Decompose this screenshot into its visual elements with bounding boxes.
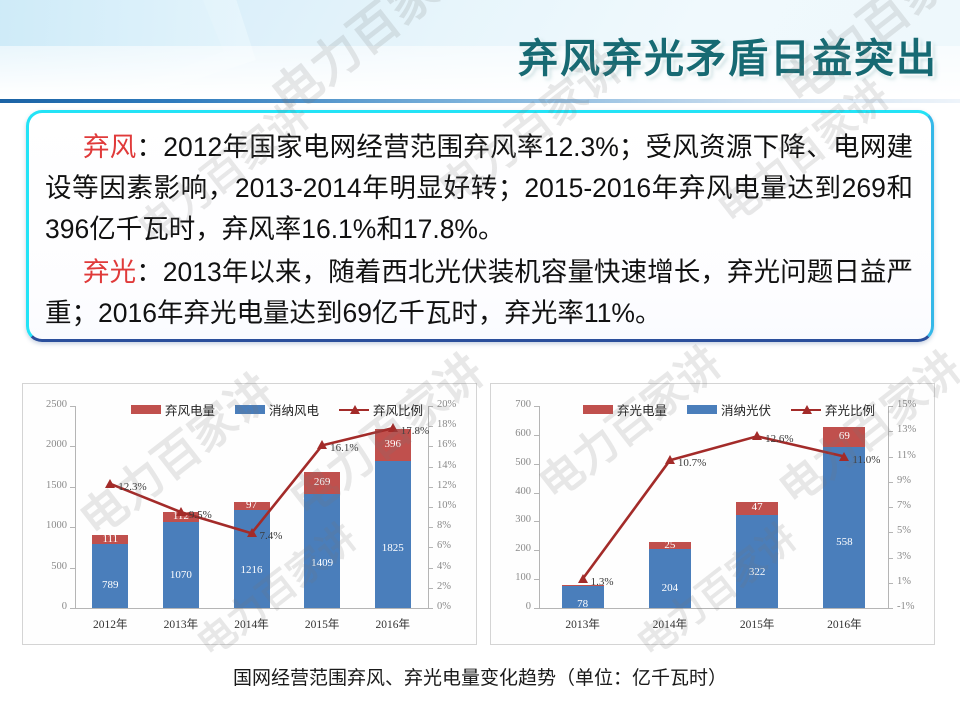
chart-wind-curtailment: 050010001500200025000%2%4%6%8%10%12%14%1… bbox=[22, 383, 477, 645]
ratio-line-marker bbox=[317, 440, 327, 449]
chart-solar-curtailment: 0100200300400500600700-1%1%3%5%7%9%11%13… bbox=[490, 383, 935, 645]
ratio-line-series bbox=[23, 384, 476, 644]
legend-item[interactable]: 弃光比例 bbox=[791, 400, 875, 419]
ratio-point-label: 7.4% bbox=[260, 530, 283, 542]
legend-label: 消纳风电 bbox=[269, 400, 319, 419]
ratio-line-marker bbox=[752, 431, 762, 440]
legend-label: 弃光电量 bbox=[617, 400, 667, 419]
keyword-wind: 弃风 bbox=[83, 132, 137, 162]
legend-label: 弃风电量 bbox=[165, 400, 215, 419]
ratio-point-label: 9.5% bbox=[189, 509, 212, 521]
ratio-point-label: 12.3% bbox=[118, 481, 146, 493]
ratio-point-label: 10.7% bbox=[678, 457, 706, 469]
ratio-line-marker bbox=[665, 455, 675, 464]
ratio-line-marker bbox=[388, 423, 398, 432]
ratio-line-marker bbox=[247, 528, 257, 537]
chart-legend: 弃光电量消纳光伏弃光比例 bbox=[583, 400, 889, 419]
legend-swatch bbox=[583, 405, 613, 414]
colon-wind: ： bbox=[137, 132, 164, 162]
ratio-point-label: 1.3% bbox=[591, 576, 614, 588]
ratio-line-marker bbox=[176, 507, 186, 516]
chart-legend: 弃风电量消纳风电弃风比例 bbox=[131, 400, 437, 419]
legend-label: 弃光比例 bbox=[825, 400, 875, 419]
page-title: 弃风弃光矛盾日益突出 bbox=[518, 26, 938, 84]
charts-caption: 国网经营范围弃风、弃光电量变化趋势（单位：亿千瓦时） bbox=[0, 663, 960, 690]
header-divider bbox=[0, 99, 960, 103]
paragraph-solar-text: 2013年以来，随着西北光伏装机容量快速增长，弃光问题日益严重；2016年弃光电… bbox=[45, 257, 913, 328]
legend-item[interactable]: 消纳风电 bbox=[235, 400, 319, 419]
ratio-point-label: 12.6% bbox=[765, 433, 793, 445]
ratio-line-marker bbox=[578, 574, 588, 583]
ratio-point-label: 17.8% bbox=[401, 425, 429, 437]
legend-item[interactable]: 消纳光伏 bbox=[687, 400, 771, 419]
ratio-line-series bbox=[491, 384, 934, 644]
legend-item[interactable]: 弃光电量 bbox=[583, 400, 667, 419]
paragraph-wind: 弃风：2012年国家电网经营范围弃风率12.3%；受风资源下降、电网建设等因素影… bbox=[45, 127, 913, 250]
body-text-card: 弃风：2012年国家电网经营范围弃风率12.3%；受风资源下降、电网建设等因素影… bbox=[26, 110, 934, 342]
legend-label: 消纳光伏 bbox=[721, 400, 771, 419]
ratio-line-marker bbox=[105, 479, 115, 488]
legend-swatch bbox=[131, 405, 161, 414]
chart-solar-plot-area: 0100200300400500600700-1%1%3%5%7%9%11%13… bbox=[491, 384, 934, 644]
ratio-line-marker bbox=[839, 452, 849, 461]
ratio-point-label: 16.1% bbox=[330, 442, 358, 454]
keyword-solar: 弃光 bbox=[83, 257, 136, 287]
colon-solar: ： bbox=[136, 257, 163, 287]
legend-line-swatch bbox=[339, 405, 369, 414]
chart-wind-plot-area: 050010001500200025000%2%4%6%8%10%12%14%1… bbox=[23, 384, 476, 644]
paragraph-solar: 弃光：2013年以来，随着西北光伏装机容量快速增长，弃光问题日益严重；2016年… bbox=[45, 252, 913, 334]
legend-label: 弃风比例 bbox=[373, 400, 423, 419]
legend-swatch bbox=[687, 405, 717, 414]
legend-item[interactable]: 弃风电量 bbox=[131, 400, 215, 419]
slide-header: 弃风弃光矛盾日益突出 bbox=[0, 0, 960, 96]
legend-swatch bbox=[235, 405, 265, 414]
legend-item[interactable]: 弃风比例 bbox=[339, 400, 423, 419]
legend-line-swatch bbox=[791, 405, 821, 414]
ratio-point-label: 11.0% bbox=[852, 454, 880, 466]
paragraph-wind-text: 2012年国家电网经营范围弃风率12.3%；受风资源下降、电网建设等因素影响，2… bbox=[45, 132, 913, 244]
